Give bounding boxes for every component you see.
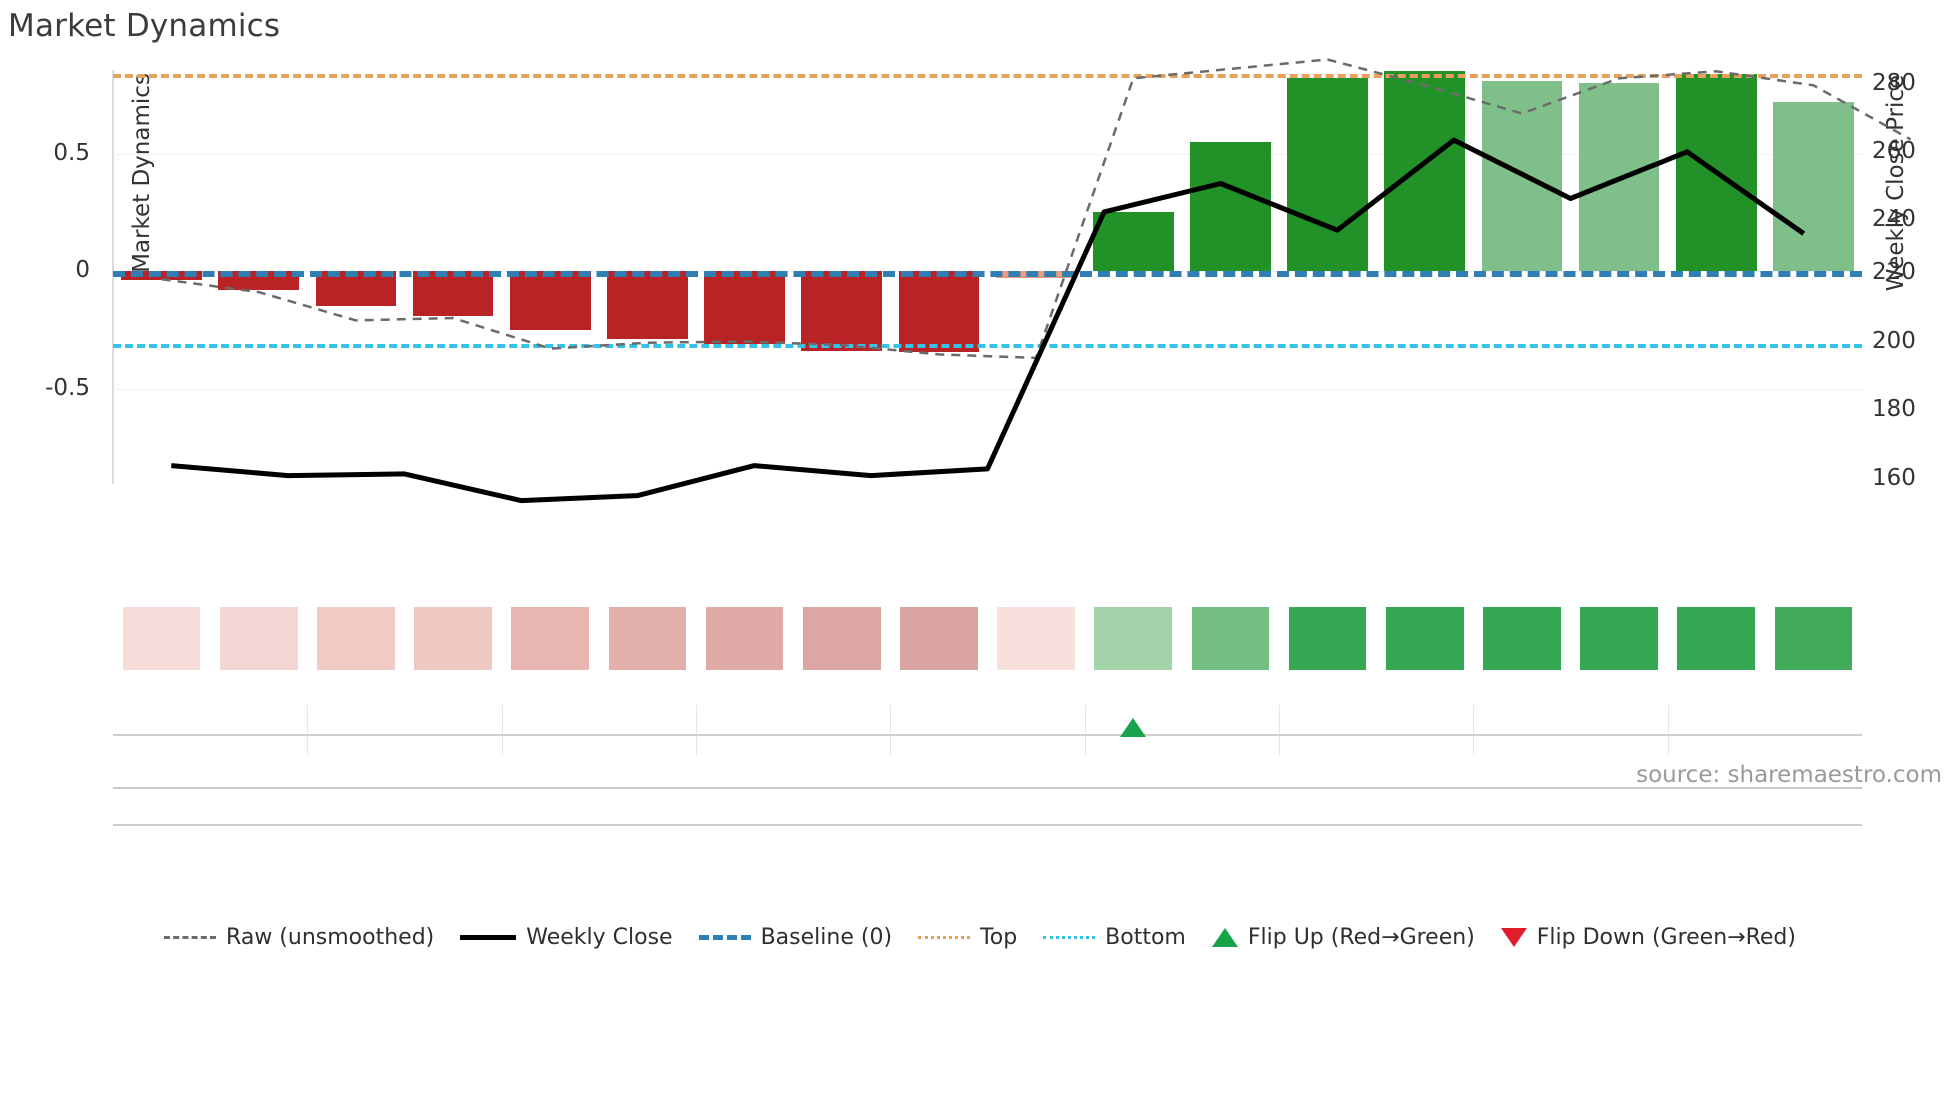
chart-page: Market Dynamics Market Dynamics Weekly C… xyxy=(0,0,1960,1102)
bar-7[interactable] xyxy=(704,271,785,344)
regime-cell-6[interactable] xyxy=(609,607,687,670)
regime-cell-16[interactable] xyxy=(1580,607,1658,670)
bar-18[interactable] xyxy=(1773,102,1854,271)
regime-cell-3[interactable] xyxy=(317,607,395,670)
y-tick-left-1: 0 xyxy=(10,257,90,283)
bar-6[interactable] xyxy=(607,271,688,339)
refline-bottom xyxy=(113,344,1862,348)
x-gridline-8 xyxy=(1668,705,1669,755)
regime-cell-17[interactable] xyxy=(1677,607,1755,670)
regime-cell-1[interactable] xyxy=(123,607,201,670)
legend-label-weekly-close: Weekly Close xyxy=(526,925,672,950)
x-gridline-7 xyxy=(1473,705,1474,755)
down-triangle-icon xyxy=(1501,928,1527,947)
bar-11[interactable] xyxy=(1093,212,1174,271)
legend-item-baseline[interactable]: Baseline (0) xyxy=(699,925,892,950)
bar-4[interactable] xyxy=(413,271,494,316)
legend-label-flip-up: Flip Up (Red→Green) xyxy=(1248,925,1475,950)
regime-cell-14[interactable] xyxy=(1386,607,1464,670)
x-gridline-3 xyxy=(696,705,697,755)
legend-item-bottom[interactable]: Bottom xyxy=(1043,925,1186,950)
legend-item-flip-down[interactable]: Flip Down (Green→Red) xyxy=(1501,925,1796,950)
y-tick-right-2: 240 xyxy=(1872,206,1952,232)
up-triangle-icon xyxy=(1212,928,1238,947)
regime-cell-11[interactable] xyxy=(1094,607,1172,670)
y-tick-right-3: 220 xyxy=(1872,259,1952,285)
regime-cell-13[interactable] xyxy=(1289,607,1367,670)
regime-cell-5[interactable] xyxy=(511,607,589,670)
bar-5[interactable] xyxy=(510,271,591,330)
flip-up-marker[interactable] xyxy=(1120,718,1146,737)
regime-cell-15[interactable] xyxy=(1483,607,1561,670)
bar-17[interactable] xyxy=(1676,74,1757,271)
legend-item-weekly-close[interactable]: Weekly Close xyxy=(460,925,672,950)
legend-label-bottom: Bottom xyxy=(1105,925,1186,950)
y-tick-right-1: 260 xyxy=(1872,138,1952,164)
legend-label-flip-down: Flip Down (Green→Red) xyxy=(1537,925,1796,950)
y-tick-right-5: 180 xyxy=(1872,396,1952,422)
regime-cell-2[interactable] xyxy=(220,607,298,670)
regime-cell-10[interactable] xyxy=(997,607,1075,670)
x-gridline-5 xyxy=(1085,705,1086,755)
bar-14[interactable] xyxy=(1384,71,1465,271)
plot-left-spine xyxy=(112,70,114,484)
dotted-orange-line-icon xyxy=(918,936,970,939)
x-gridline-4 xyxy=(890,705,891,755)
regime-cell-7[interactable] xyxy=(706,607,784,670)
y-tick-right-6: 160 xyxy=(1872,465,1952,491)
dashed-blue-line-icon xyxy=(699,935,751,940)
refline-top xyxy=(113,74,1862,78)
dashed-grey-line-icon xyxy=(164,936,216,939)
dotted-cyan-line-icon xyxy=(1043,936,1095,939)
regime-cell-18[interactable] xyxy=(1775,607,1853,670)
regime-cell-9[interactable] xyxy=(900,607,978,670)
bar-12[interactable] xyxy=(1190,142,1271,271)
gridline-neg0p5 xyxy=(113,389,1862,390)
source-caption: source: sharemaestro.com xyxy=(1636,762,1942,788)
x-gridline-6 xyxy=(1279,705,1280,755)
footer-rule xyxy=(113,787,1862,789)
legend-item-top[interactable]: Top xyxy=(918,925,1017,950)
x-axis-line xyxy=(113,734,1862,736)
legend-label-raw: Raw (unsmoothed) xyxy=(226,925,434,950)
bar-8[interactable] xyxy=(801,271,882,351)
y-tick-left-2: -0.5 xyxy=(10,375,90,401)
regime-cell-4[interactable] xyxy=(414,607,492,670)
legend-label-baseline: Baseline (0) xyxy=(761,925,892,950)
bar-16[interactable] xyxy=(1579,83,1660,271)
regime-cell-8[interactable] xyxy=(803,607,881,670)
solid-black-line-icon xyxy=(460,935,516,940)
legend-label-top: Top xyxy=(980,925,1017,950)
y-tick-right-4: 200 xyxy=(1872,328,1952,354)
refline-baseline-0 xyxy=(113,271,1862,277)
y-tick-right-0: 280 xyxy=(1872,70,1952,96)
bar-13[interactable] xyxy=(1287,78,1368,271)
regime-cell-12[interactable] xyxy=(1192,607,1270,670)
bar-15[interactable] xyxy=(1482,81,1563,271)
legend-item-flip-up[interactable]: Flip Up (Red→Green) xyxy=(1212,925,1475,950)
y-tick-left-0: 0.5 xyxy=(10,140,90,166)
legend: Raw (unsmoothed) Weekly Close Baseline (… xyxy=(0,925,1960,950)
bar-9[interactable] xyxy=(899,271,980,352)
bottom-rule xyxy=(113,824,1862,826)
x-gridline-2 xyxy=(502,705,503,755)
x-gridline-1 xyxy=(307,705,308,755)
legend-item-raw[interactable]: Raw (unsmoothed) xyxy=(164,925,434,950)
